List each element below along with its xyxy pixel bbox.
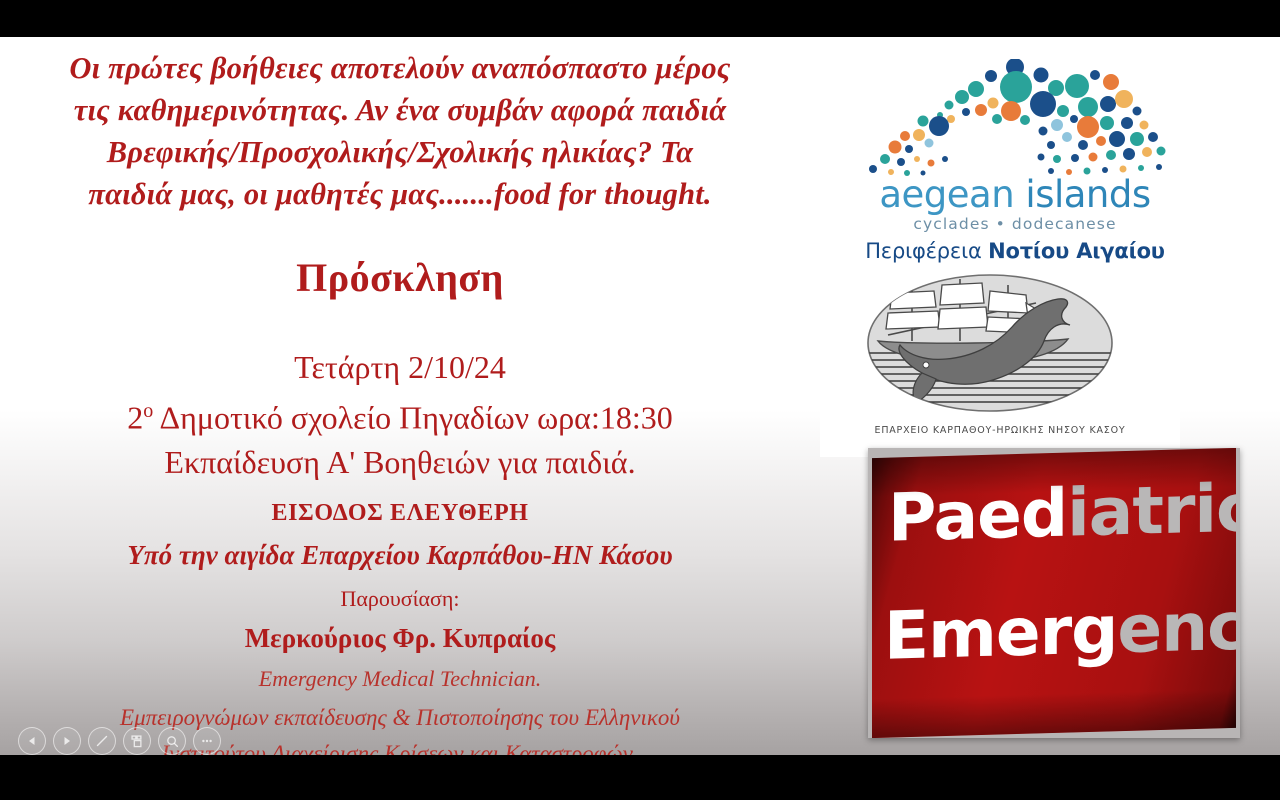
presentation-toolbar[interactable] xyxy=(18,727,221,755)
presentation-label: Παρουσίαση: xyxy=(0,574,800,614)
eparcheio-emblem: ΕΠΑΡΧΕΙΟ ΚΑΡΠΑΘΟΥ-ΗΡΩΙΚΗΣ ΝΗΣΟΥ ΚΑΣΟΥ xyxy=(820,269,1180,457)
region-bold: Νοτίου Αιγαίου xyxy=(988,239,1165,263)
sign-line-2: Emergencies xyxy=(884,585,1236,675)
ship-dolphin-icon xyxy=(830,269,1150,427)
event-topic: Εκπαίδευση Α' Βοηθειών για παιδιά. xyxy=(0,440,800,484)
event-venue: 2ο Δημοτικό σχολείο Πηγαδίων ωρα:18:30 xyxy=(0,389,800,440)
sign-emerg-white: Emerg xyxy=(884,591,1117,675)
invitation-title: Πρόσκληση xyxy=(0,215,800,303)
pen-icon xyxy=(94,733,110,749)
region-regular: Περιφέρεια xyxy=(865,239,988,263)
zoom-button[interactable] xyxy=(158,727,186,755)
ellipsis-icon xyxy=(199,733,215,749)
venue-ordinal-sup: ο xyxy=(143,400,153,422)
magnifier-icon xyxy=(165,734,180,749)
more-options-button[interactable] xyxy=(193,727,221,755)
paediatric-sign: Paediatric Emergencies xyxy=(872,448,1236,738)
triangle-left-icon xyxy=(25,734,39,748)
sign-emerg-gray: encies xyxy=(1117,585,1236,668)
headline-block: Οι πρώτες βοήθειες αποτελούν αναπόσπαστο… xyxy=(0,37,800,215)
aegean-wordmark: aegean islands xyxy=(845,175,1185,215)
grid-slides-icon xyxy=(130,734,145,749)
event-date: Τετάρτη 2/10/24 xyxy=(0,345,800,389)
paediatric-emergencies-photo: Paediatric Emergencies xyxy=(868,448,1240,738)
wordmark-islands: islands xyxy=(1025,173,1150,216)
presenter-name: Μερκούριος Φρ. Κυπραίος xyxy=(0,614,800,656)
aegean-region-line: Περιφέρεια Νοτίου Αιγαίου xyxy=(845,239,1185,263)
triangle-right-icon xyxy=(60,734,74,748)
slide-logo-column: aegean islands cyclades • dodecanese Περ… xyxy=(800,37,1280,755)
wordmark-aegean: aegean xyxy=(879,173,1014,216)
presenter-credential-1: Emergency Medical Technician. xyxy=(0,656,800,696)
slide-text-column: Οι πρώτες βοήθειες αποτελούν αναπόσπαστο… xyxy=(0,37,800,755)
venue-text: Δημοτικό σχολείο Πηγαδίων ωρα:18:30 xyxy=(153,400,672,436)
auspices-line: Υπό την αιγίδα Επαρχείου Καρπάθου-ΗΝ Κάσ… xyxy=(0,530,800,574)
headline-line-2: τις καθημερινότητας. Αν ένα συμβάν αφορά… xyxy=(0,89,800,131)
sign-paed-gray: iatric xyxy=(1067,469,1236,551)
letterbox-bottom xyxy=(0,755,1280,800)
aegean-islands-logo: aegean islands cyclades • dodecanese Περ… xyxy=(845,59,1185,264)
headline-line-4: παιδιά μας, οι μαθητές μας.......food fo… xyxy=(0,173,800,215)
letterbox-top xyxy=(0,0,1280,37)
all-slides-button[interactable] xyxy=(123,727,151,755)
next-slide-button[interactable] xyxy=(53,727,81,755)
headline-line-1: Οι πρώτες βοήθειες αποτελούν αναπόσπαστο… xyxy=(0,47,800,89)
venue-number: 2 xyxy=(127,400,143,436)
free-entry-note: ΕΙΣΟΔΟΣ ΕΛΕΥΘΕΡΗ xyxy=(0,484,800,530)
sign-line-1: Paediatric xyxy=(888,469,1236,556)
headline-line-3: Βρεφικής/Προσχολικής/Σχολικής ηλικίας? Τ… xyxy=(0,131,800,173)
eparcheio-caption: ΕΠΑΡΧΕΙΟ ΚΑΡΠΑΘΟΥ-ΗΡΩΙΚΗΣ ΝΗΣΟΥ ΚΑΣΟΥ xyxy=(820,425,1180,436)
previous-slide-button[interactable] xyxy=(18,727,46,755)
pen-tool-button[interactable] xyxy=(88,727,116,755)
event-details-block: Τετάρτη 2/10/24 2ο Δημοτικό σχολείο Πηγα… xyxy=(0,303,800,484)
sign-paed-white: Paed xyxy=(888,475,1067,557)
slide-canvas: Οι πρώτες βοήθειες αποτελούν αναπόσπαστο… xyxy=(0,37,1280,755)
aegean-subtitle: cyclades • dodecanese xyxy=(845,215,1185,233)
dot-arch-icon xyxy=(845,59,1185,179)
presentation-stage: Οι πρώτες βοήθειες αποτελούν αναπόσπαστο… xyxy=(0,0,1280,800)
